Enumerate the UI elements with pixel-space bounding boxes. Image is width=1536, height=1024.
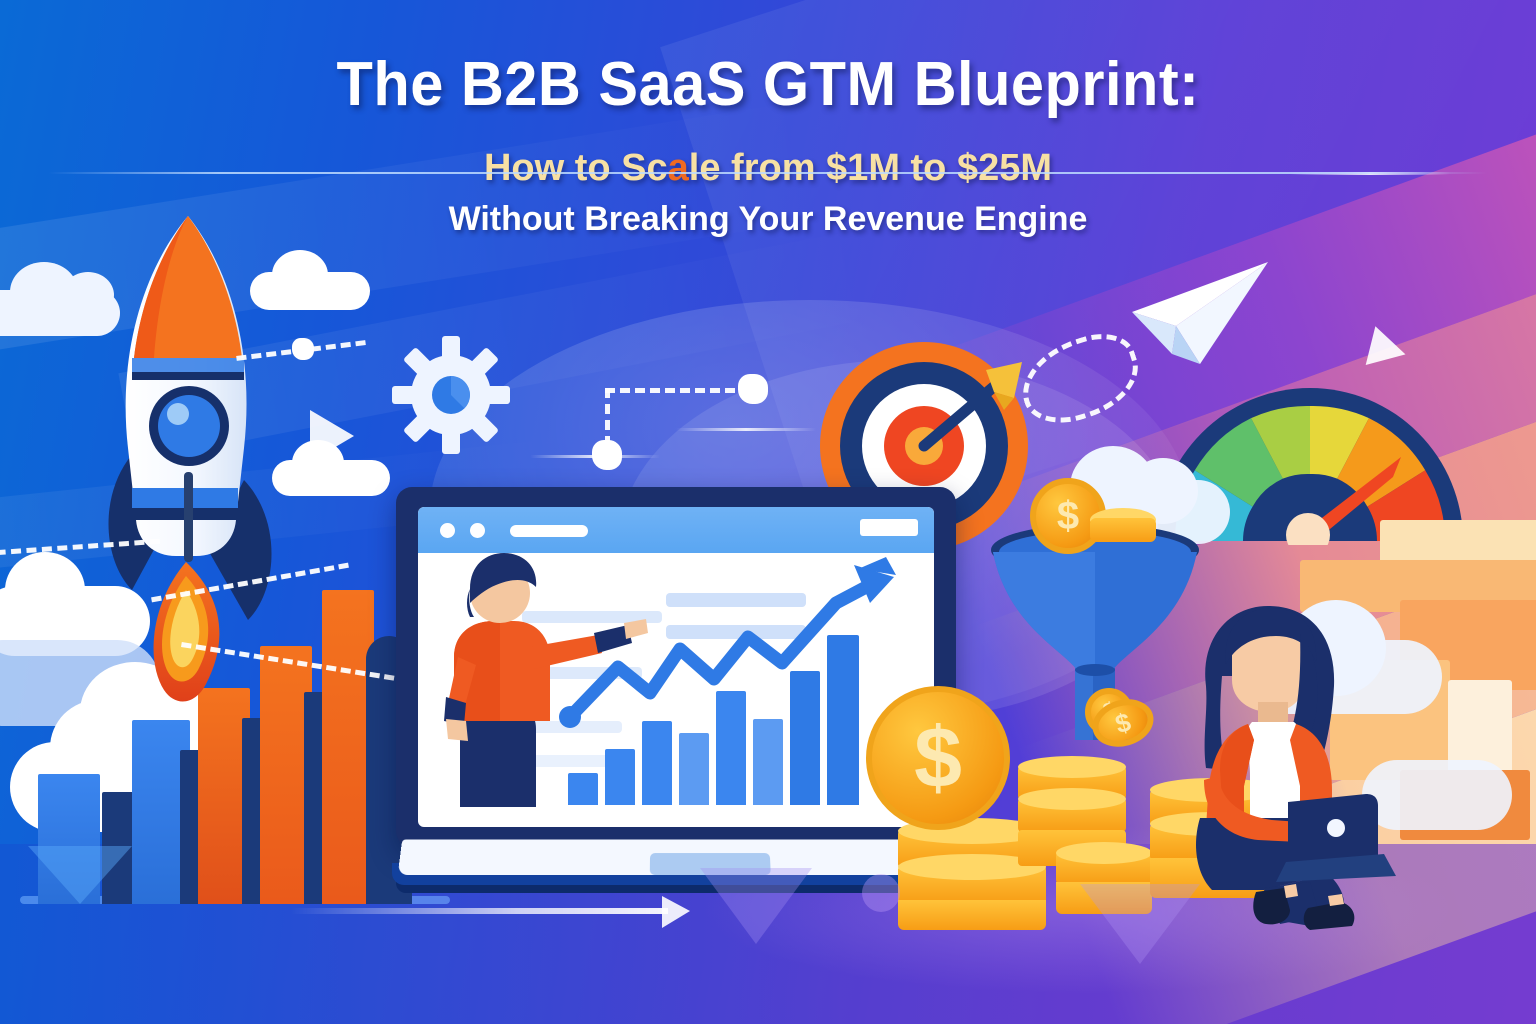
coin-cylinder — [1056, 852, 1152, 884]
bar — [102, 792, 134, 904]
woman-with-laptop — [1160, 590, 1420, 930]
gear-icon — [392, 336, 510, 454]
laptop-keyboard-deck — [398, 839, 955, 875]
connector-node — [592, 440, 622, 470]
coin-cylinder — [1018, 830, 1126, 866]
laptop-base — [392, 839, 960, 885]
hairline — [530, 455, 660, 458]
performance-gauge — [1145, 345, 1475, 545]
coin-top — [1018, 756, 1126, 778]
rocket-icon — [58, 190, 318, 710]
coin-top — [1018, 788, 1126, 810]
block — [1448, 680, 1512, 776]
bottom-arrow-icon — [290, 892, 690, 932]
block — [1400, 600, 1536, 690]
hairline — [676, 428, 816, 431]
coin-cylinder — [1018, 766, 1126, 800]
dashed-line — [605, 388, 765, 393]
subtitle-part-a: How to Sc — [484, 147, 668, 189]
subtitle: How to Scale from $1M to $25M — [0, 147, 1536, 190]
subtitle-third-line: Without Breaking Your Revenue Engine — [0, 200, 1536, 239]
bar — [38, 774, 100, 904]
laptop — [396, 487, 962, 907]
coin-icon: $ — [1085, 688, 1133, 736]
subtitle-part-b: le from $1M to $25M — [689, 147, 1052, 189]
man-presenting — [418, 507, 934, 827]
coin-edge — [1090, 518, 1156, 542]
subtitle-highlight: a — [668, 147, 689, 189]
coin-top — [1056, 842, 1152, 864]
coin-cylinder — [1018, 798, 1126, 832]
page-title: The B2B SaaS GTM Blueprint: — [31, 52, 1506, 117]
trackpad[interactable] — [650, 853, 771, 875]
laptop-screen — [418, 507, 934, 827]
connector-node — [738, 374, 768, 404]
title-divider — [48, 172, 1488, 174]
laptop-lid — [396, 487, 956, 847]
coin-cylinder — [1056, 882, 1152, 914]
poster-canvas: $ $ — [0, 0, 1536, 1024]
title-block: The B2B SaaS GTM Blueprint: How to Scale… — [0, 52, 1536, 239]
dashed-line — [605, 388, 610, 446]
